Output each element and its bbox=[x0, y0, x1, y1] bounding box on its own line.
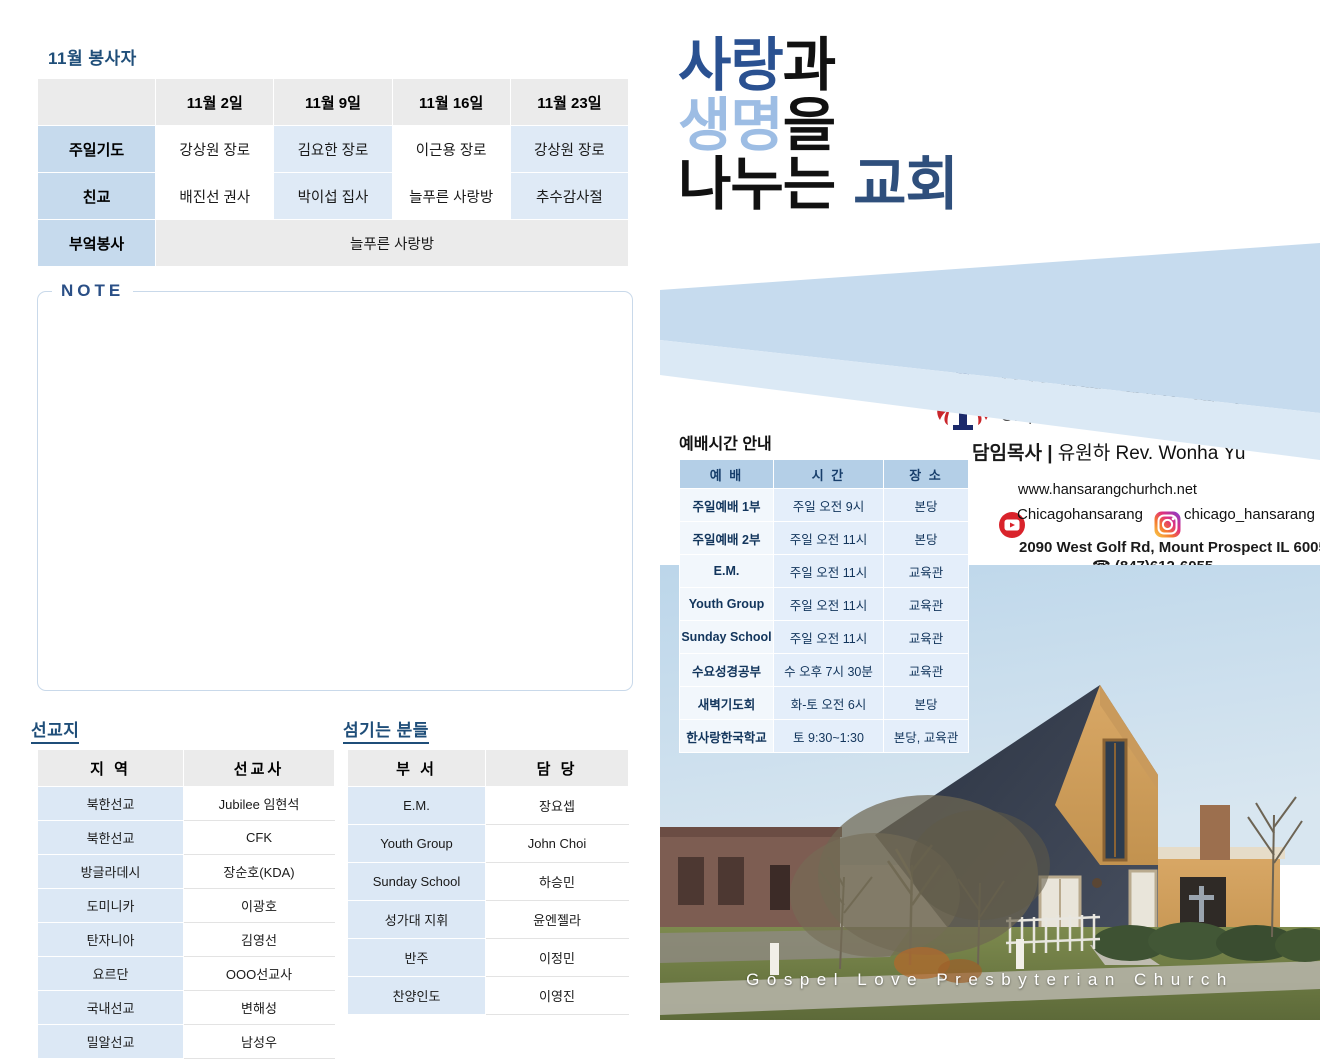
row-label-prayer: 주일기도 bbox=[38, 126, 156, 173]
servants-department: Youth Group bbox=[348, 825, 486, 863]
table-row: 성가대 지휘윤엔젤라 bbox=[348, 901, 629, 939]
servants-person: John Choi bbox=[486, 825, 629, 863]
worship-place: 교육관 bbox=[884, 654, 969, 687]
right-panel: 사랑과 생명을 나누는교회 섬김과 돌봄, 나눔이 있는 교회 한 bbox=[660, 0, 1320, 1020]
table-row: 북한선교CFK bbox=[38, 821, 335, 855]
mission-region: 도미니카 bbox=[38, 889, 184, 923]
cell-kitchen-value: 늘푸른 사랑방 bbox=[156, 220, 629, 267]
volunteer-col-3: 11월 23일 bbox=[510, 79, 628, 126]
table-header-row: 11월 2일 11월 9일 11월 16일 11월 23일 bbox=[38, 79, 629, 126]
mission-region: 북한선교 bbox=[38, 821, 184, 855]
cell-prayer-3: 강상원 장로 bbox=[510, 126, 628, 173]
cell-fellowship-2: 늘푸른 사랑방 bbox=[392, 173, 510, 220]
volunteer-col-0: 11월 2일 bbox=[156, 79, 274, 126]
mission-table: 지 역 선교사 북한선교Jubilee 임현석 북한선교CFK 방글라데시장순호… bbox=[37, 749, 335, 1059]
worship-col-place: 장 소 bbox=[884, 460, 969, 489]
note-label: NOTE bbox=[52, 281, 133, 301]
youtube-handle[interactable]: Chicagohansarang bbox=[1017, 506, 1143, 523]
servants-department: 찬양인도 bbox=[348, 977, 486, 1015]
worship-service: 주일예배 1부 bbox=[680, 489, 774, 522]
table-row: 친교 배진선 권사 박이섭 집사 늘푸른 사랑방 추수감사절 bbox=[38, 173, 629, 220]
mission-section-title: 선교지 bbox=[31, 716, 79, 744]
volunteer-corner-cell bbox=[38, 79, 156, 126]
mission-region: 국내선교 bbox=[38, 991, 184, 1025]
instagram-icon[interactable] bbox=[1154, 511, 1181, 538]
mission-col-missionary: 선교사 bbox=[184, 750, 335, 787]
worship-col-service: 예 배 bbox=[680, 460, 774, 489]
mission-missionary: 남성우 bbox=[184, 1025, 335, 1059]
table-row: 찬양인도이영진 bbox=[348, 977, 629, 1015]
table-row: 주일기도 강상원 장로 김요한 장로 이근용 장로 강상원 장로 bbox=[38, 126, 629, 173]
table-row: 한사랑한국학교토 9:30~1:30본당, 교육관 bbox=[680, 720, 969, 753]
worship-place: 본당, 교육관 bbox=[884, 720, 969, 753]
mission-region: 밀알선교 bbox=[38, 1025, 184, 1059]
table-row: E.M.장요셉 bbox=[348, 787, 629, 825]
mission-region: 방글라데시 bbox=[38, 855, 184, 889]
mission-col-region: 지 역 bbox=[38, 750, 184, 787]
servants-col-department: 부 서 bbox=[348, 750, 486, 787]
table-row: 부엌봉사 늘푸른 사랑방 bbox=[38, 220, 629, 267]
worship-time: 주일 오전 11시 bbox=[774, 621, 884, 654]
table-row: 밀알선교남성우 bbox=[38, 1025, 335, 1059]
servants-person: 장요셉 bbox=[486, 787, 629, 825]
worship-place: 본당 bbox=[884, 687, 969, 720]
servants-department: E.M. bbox=[348, 787, 486, 825]
worship-col-time: 시 간 bbox=[774, 460, 884, 489]
servants-col-person: 담 당 bbox=[486, 750, 629, 787]
mission-missionary: 김영선 bbox=[184, 923, 335, 957]
table-row: 새벽기도회화-토 오전 6시본당 bbox=[680, 687, 969, 720]
row-label-fellowship: 친교 bbox=[38, 173, 156, 220]
volunteer-col-2: 11월 16일 bbox=[392, 79, 510, 126]
volunteer-col-1: 11월 9일 bbox=[274, 79, 392, 126]
servants-person: 하승민 bbox=[486, 863, 629, 901]
mission-region: 북한선교 bbox=[38, 787, 184, 821]
table-row: Youth Group주일 오전 11시교육관 bbox=[680, 588, 969, 621]
worship-service: Sunday School bbox=[680, 621, 774, 654]
worship-time: 주일 오전 11시 bbox=[774, 588, 884, 621]
mission-missionary: 장순호(KDA) bbox=[184, 855, 335, 889]
table-row: 도미니카이광호 bbox=[38, 889, 335, 923]
worship-schedule-table: 예 배 시 간 장 소 주일예배 1부주일 오전 9시본당 주일예배 2부주일 … bbox=[679, 459, 969, 753]
servants-person: 이정민 bbox=[486, 939, 629, 977]
cell-prayer-2: 이근용 장로 bbox=[392, 126, 510, 173]
worship-place: 교육관 bbox=[884, 588, 969, 621]
mission-missionary: OOO선교사 bbox=[184, 957, 335, 991]
table-header-row: 지 역 선교사 bbox=[38, 750, 335, 787]
table-row: Sunday School하승민 bbox=[348, 863, 629, 901]
cell-prayer-0: 강상원 장로 bbox=[156, 126, 274, 173]
table-header-row: 부 서 담 당 bbox=[348, 750, 629, 787]
cell-fellowship-3: 추수감사절 bbox=[510, 173, 628, 220]
table-row: 요르단OOO선교사 bbox=[38, 957, 335, 991]
servants-department: Sunday School bbox=[348, 863, 486, 901]
table-row: 북한선교Jubilee 임현석 bbox=[38, 787, 335, 821]
row-label-kitchen: 부엌봉사 bbox=[38, 220, 156, 267]
table-row: E.M.주일 오전 11시교육관 bbox=[680, 555, 969, 588]
worship-service: 주일예배 2부 bbox=[680, 522, 774, 555]
left-panel: 11월 봉사자 11월 2일 11월 9일 11월 16일 11월 23일 주일… bbox=[0, 0, 660, 1020]
mission-region: 요르단 bbox=[38, 957, 184, 991]
volunteer-section-title: 11월 봉사자 bbox=[48, 44, 137, 69]
table-row: 수요성경공부수 오후 7시 30분교육관 bbox=[680, 654, 969, 687]
cell-fellowship-1: 박이섭 집사 bbox=[274, 173, 392, 220]
worship-time: 주일 오전 11시 bbox=[774, 555, 884, 588]
servants-person: 윤엔젤라 bbox=[486, 901, 629, 939]
cell-prayer-1: 김요한 장로 bbox=[274, 126, 392, 173]
servants-section-title: 섬기는 분들 bbox=[343, 716, 429, 744]
table-row: 탄자니아김영선 bbox=[38, 923, 335, 957]
table-header-row: 예 배 시 간 장 소 bbox=[680, 460, 969, 489]
servants-person: 이영진 bbox=[486, 977, 629, 1015]
volunteer-table: 11월 2일 11월 9일 11월 16일 11월 23일 주일기도 강상원 장… bbox=[37, 78, 629, 267]
cell-fellowship-0: 배진선 권사 bbox=[156, 173, 274, 220]
servants-department: 반주 bbox=[348, 939, 486, 977]
table-row: Youth GroupJohn Choi bbox=[348, 825, 629, 863]
table-row: 국내선교변해성 bbox=[38, 991, 335, 1025]
worship-time: 주일 오전 9시 bbox=[774, 489, 884, 522]
mission-missionary: 변해성 bbox=[184, 991, 335, 1025]
mission-region: 탄자니아 bbox=[38, 923, 184, 957]
table-row: 주일예배 2부주일 오전 11시본당 bbox=[680, 522, 969, 555]
note-box[interactable] bbox=[37, 291, 633, 691]
photo-caption: Gospel Love Presbyterian Church bbox=[660, 970, 1320, 990]
worship-service: 수요성경공부 bbox=[680, 654, 774, 687]
worship-place: 본당 bbox=[884, 522, 969, 555]
worship-place: 교육관 bbox=[884, 621, 969, 654]
worship-service: E.M. bbox=[680, 555, 774, 588]
church-address: 2090 West Golf Rd, Mount Prospect IL 600… bbox=[1019, 539, 1320, 556]
servants-department: 성가대 지휘 bbox=[348, 901, 486, 939]
worship-service: 새벽기도회 bbox=[680, 687, 774, 720]
worship-time: 주일 오전 11시 bbox=[774, 522, 884, 555]
table-row: 주일예배 1부주일 오전 9시본당 bbox=[680, 489, 969, 522]
diagonal-band-decoration bbox=[660, 0, 1320, 460]
mission-missionary: Jubilee 임현석 bbox=[184, 787, 335, 821]
worship-place: 본당 bbox=[884, 489, 969, 522]
instagram-handle[interactable]: chicago_hansarang bbox=[1184, 506, 1315, 523]
worship-service: Youth Group bbox=[680, 588, 774, 621]
mission-missionary: CFK bbox=[184, 821, 335, 855]
worship-time: 토 9:30~1:30 bbox=[774, 720, 884, 753]
worship-place: 교육관 bbox=[884, 555, 969, 588]
table-row: 반주이정민 bbox=[348, 939, 629, 977]
worship-service: 한사랑한국학교 bbox=[680, 720, 774, 753]
mission-missionary: 이광호 bbox=[184, 889, 335, 923]
table-row: Sunday School주일 오전 11시교육관 bbox=[680, 621, 969, 654]
table-row: 방글라데시장순호(KDA) bbox=[38, 855, 335, 889]
website-url[interactable]: www.hansarangchurhch.net bbox=[1018, 482, 1197, 498]
servants-table: 부 서 담 당 E.M.장요셉 Youth GroupJohn Choi Sun… bbox=[347, 749, 629, 1015]
worship-time: 수 오후 7시 30분 bbox=[774, 654, 884, 687]
worship-time: 화-토 오전 6시 bbox=[774, 687, 884, 720]
